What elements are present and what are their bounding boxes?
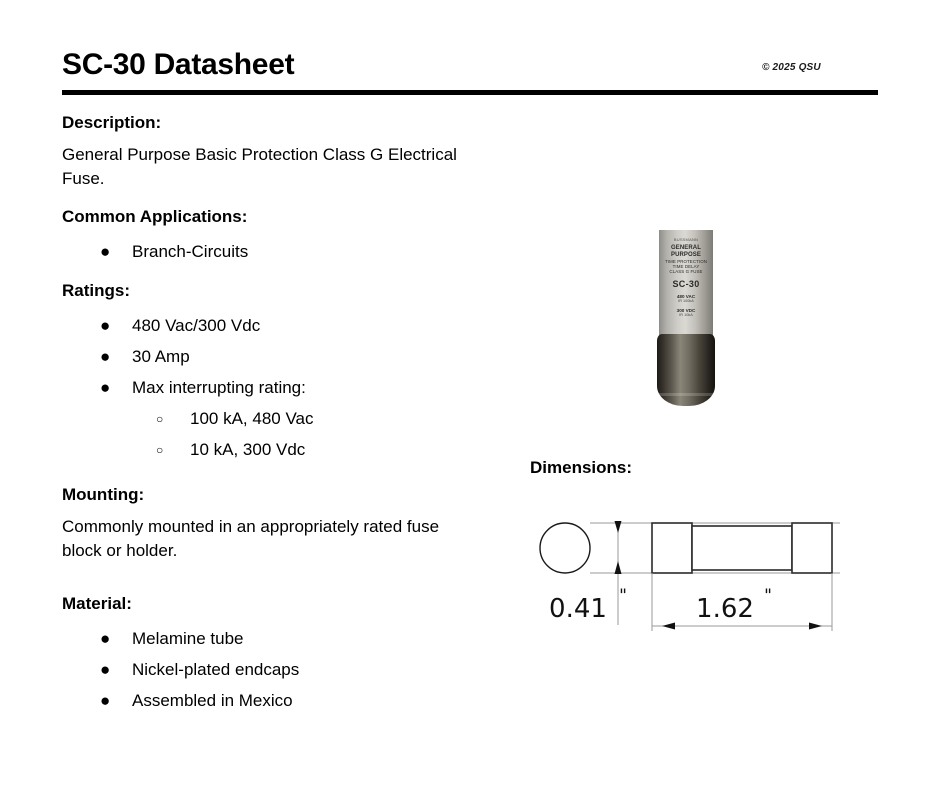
fuse-endcap-bottom	[657, 334, 715, 406]
applications-list: ● Branch-Circuits	[62, 237, 492, 268]
list-item: ● Nickel-plated endcaps	[62, 655, 492, 686]
material-heading: Material:	[62, 593, 492, 614]
sub-bullet-icon: ○	[156, 404, 163, 435]
bullet-icon: ●	[100, 686, 110, 717]
ratings-heading: Ratings:	[62, 280, 492, 301]
fuse-label-rating4: IR 10kA	[664, 313, 708, 317]
diameter-unit-label: "	[619, 586, 627, 606]
list-item-label: Assembled in Mexico	[132, 691, 293, 710]
list-item-label: Nickel-plated endcaps	[132, 660, 299, 679]
length-label: 1.62	[696, 594, 754, 624]
diameter-arrow-up	[615, 521, 622, 533]
fuse-label-rating2: IR 100kA	[664, 299, 708, 303]
length-unit-label: "	[764, 586, 772, 606]
sub-list-item: ○ 10 kA, 300 Vdc	[132, 435, 492, 466]
diameter-label: 0.41	[549, 594, 607, 624]
fuse-label: BUSSMANN GENERAL PURPOSE TIME PROTECTION…	[664, 238, 708, 318]
bullet-icon: ●	[100, 237, 110, 268]
sub-list-item: ○ 100 kA, 480 Vac	[132, 404, 492, 435]
list-item: ● Max interrupting rating: ○ 100 kA, 480…	[62, 373, 492, 466]
dimension-drawing: 0.41 " 1.62 "	[520, 495, 920, 655]
length-arrow-left	[662, 623, 675, 630]
description-text: General Purpose Basic Protection Class G…	[62, 143, 462, 191]
applications-heading: Common Applications:	[62, 206, 492, 227]
fuse-label-line4: CLASS G FUSE	[664, 269, 708, 274]
bullet-icon: ●	[100, 624, 110, 655]
fuse-label-line1: GENERAL PURPOSE	[664, 245, 708, 259]
fuse-body-outline	[692, 526, 792, 570]
bullet-icon: ●	[100, 655, 110, 686]
sub-bullet-icon: ○	[156, 435, 163, 466]
sub-list-item-label: 100 kA, 480 Vac	[190, 409, 314, 428]
list-item-label: Branch-Circuits	[132, 242, 248, 261]
fuse-label-brand: BUSSMANN	[664, 238, 708, 243]
bullet-icon: ●	[100, 342, 110, 373]
list-item: ● 30 Amp	[62, 342, 492, 373]
list-item-label: Melamine tube	[132, 629, 244, 648]
bullet-icon: ●	[100, 311, 110, 342]
fuse-endcap-left-outline	[652, 523, 692, 573]
title-divider	[62, 90, 878, 95]
ratings-list: ● 480 Vac/300 Vdc ● 30 Amp ● Max interru…	[62, 311, 492, 466]
fuse-endcap-top	[657, 168, 715, 238]
fuse-endcap-right-outline	[792, 523, 832, 573]
fuse-body: BUSSMANN GENERAL PURPOSE TIME PROTECTION…	[659, 230, 713, 350]
document-body: Description: General Purpose Basic Prote…	[62, 112, 492, 729]
list-item-label: Max interrupting rating:	[132, 378, 306, 397]
mounting-heading: Mounting:	[62, 484, 492, 505]
sub-list-item-label: 10 kA, 300 Vdc	[190, 440, 305, 459]
fuse-label-part-number: SC-30	[664, 279, 708, 290]
fuse-product-photo: BUSSMANN GENERAL PURPOSE TIME PROTECTION…	[655, 168, 717, 406]
diameter-arrow-down	[615, 561, 622, 574]
list-item: ● Branch-Circuits	[62, 237, 492, 268]
fuse-end-view-circle	[540, 523, 590, 573]
dimensions-heading: Dimensions:	[530, 458, 632, 478]
list-item-label: 30 Amp	[132, 347, 190, 366]
list-item-label: 480 Vac/300 Vdc	[132, 316, 260, 335]
page-title: SC-30 Datasheet	[62, 50, 294, 80]
list-item: ● 480 Vac/300 Vdc	[62, 311, 492, 342]
mounting-text: Commonly mounted in an appropriately rat…	[62, 515, 462, 563]
description-heading: Description:	[62, 112, 492, 133]
material-list: ● Melamine tube ● Nickel-plated endcaps …	[62, 624, 492, 717]
copyright-notice: © 2025 QSU	[762, 62, 821, 73]
length-arrow-right	[809, 623, 822, 630]
bullet-icon: ●	[100, 373, 110, 404]
list-item: ● Melamine tube	[62, 624, 492, 655]
list-item: ● Assembled in Mexico	[62, 686, 492, 717]
interrupting-rating-sublist: ○ 100 kA, 480 Vac ○ 10 kA, 300 Vdc	[132, 404, 492, 466]
